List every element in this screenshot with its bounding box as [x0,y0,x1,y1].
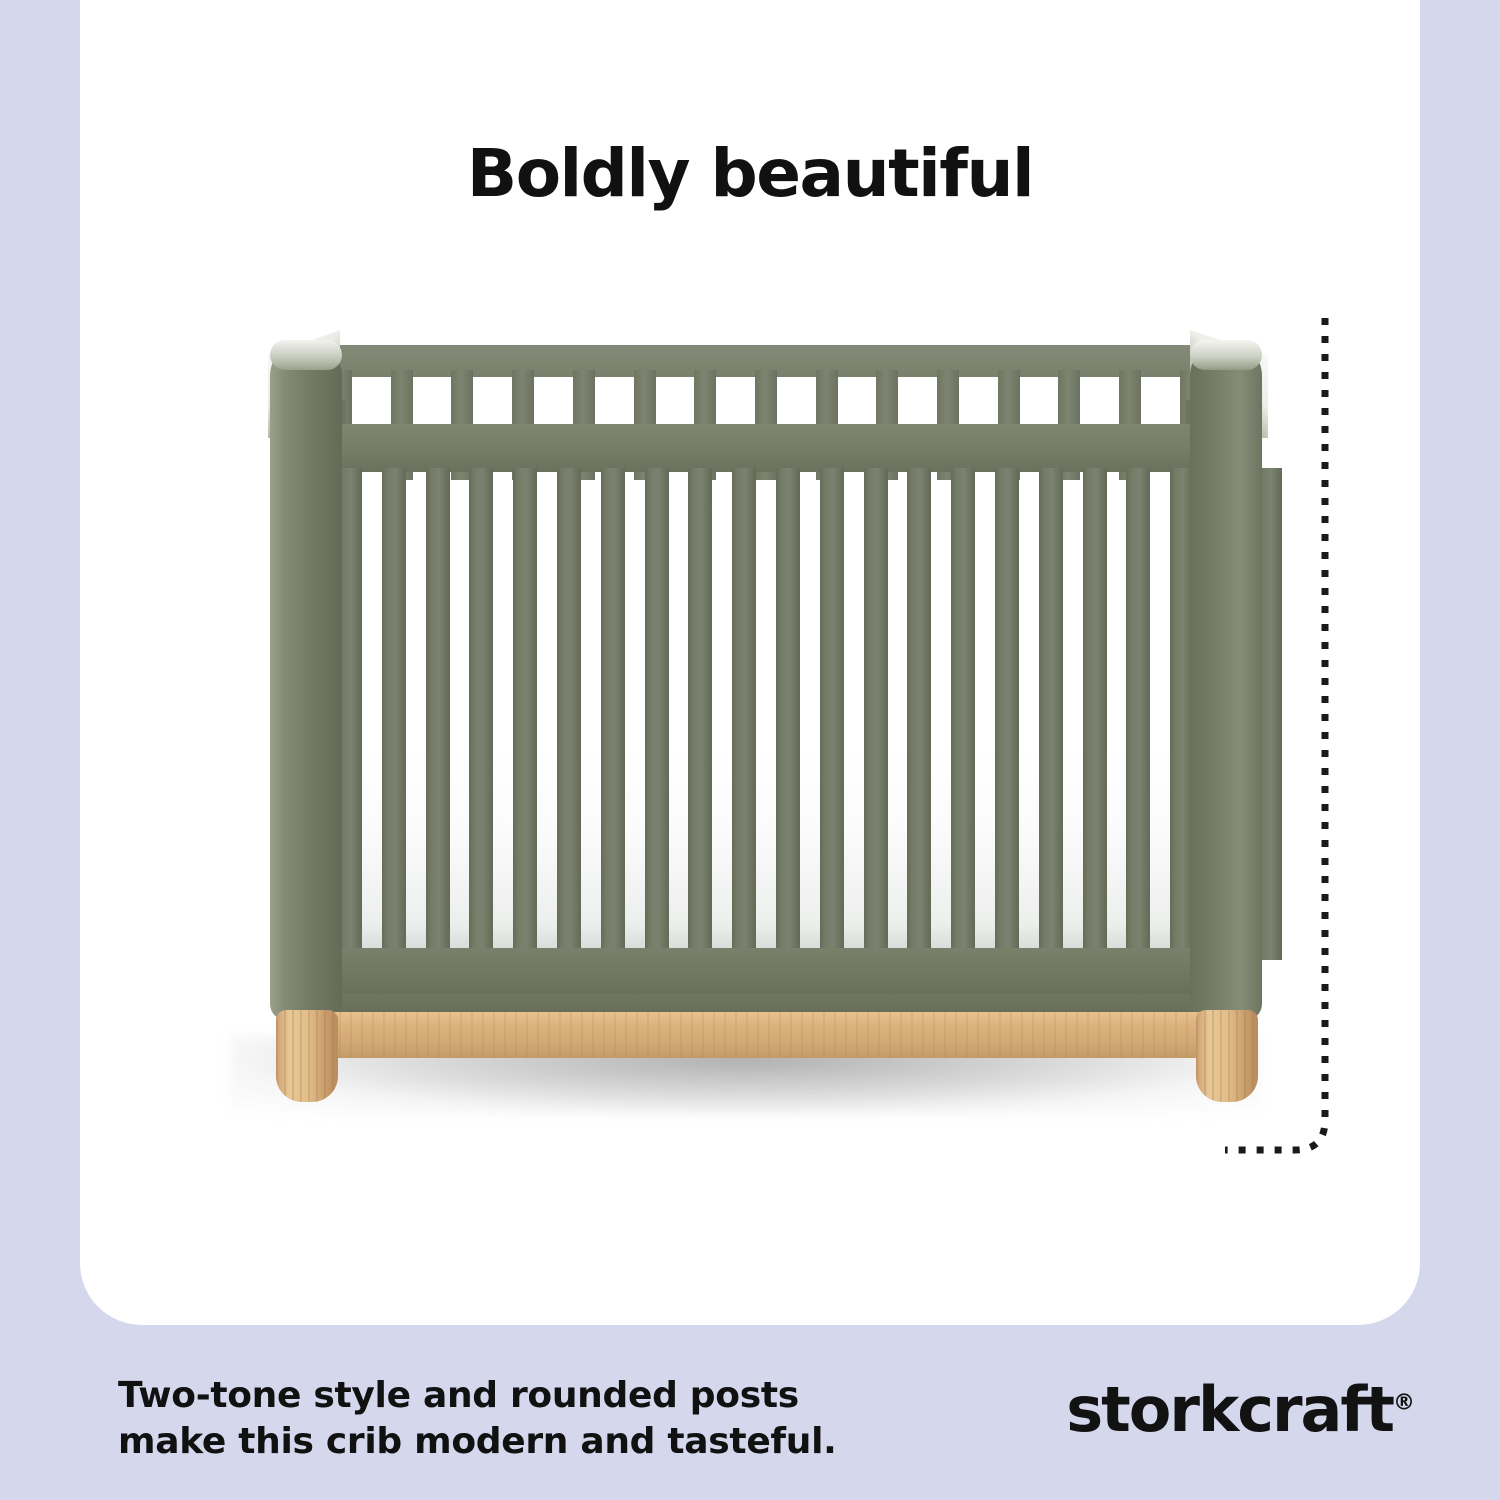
caption-line-1: Two-tone style and rounded posts [118,1373,837,1419]
crib-front-slat [907,468,931,960]
crib-wood-base-rail [328,1012,1208,1058]
crib-illustration [80,0,1420,1325]
crib-post-cap-right [1190,340,1262,370]
crib-front-slat [776,468,800,960]
crib-wood-leg-right [1196,1010,1258,1102]
crib-front-slat [469,468,493,960]
crib-front-slat [513,468,537,960]
brand-logo: storkcraft® [1066,1373,1415,1446]
crib-wood-leg-left [276,1010,338,1102]
crib-front-slat [557,468,581,960]
crib-front-slat [820,468,844,960]
registered-trademark-icon: ® [1393,1390,1415,1415]
crib-front-slat [1126,468,1150,960]
footer-bar: Two-tone style and rounded posts make th… [0,1325,1500,1500]
crib-post-cap-left [270,340,342,370]
crib-front-slat [688,468,712,960]
crib-front-slat [382,468,406,960]
crib-front-top-rail [280,424,1250,472]
crib-corner-post-right [1190,340,1262,1020]
product-feature-page: Boldly beautiful [0,0,1500,1500]
crib-corner-post-left [270,340,342,1020]
crib-front-slat [995,468,1019,960]
crib-front-slat [1083,468,1107,960]
crib-front-slat [601,468,625,960]
crib-front-slat [951,468,975,960]
crib-front-bottom-rail [280,948,1250,1000]
product-image-stage [80,0,1420,1325]
crib-front-slats [338,468,1282,960]
brand-wordmark: storkcraft [1066,1373,1393,1446]
crib-front-slat [645,468,669,960]
product-caption: Two-tone style and rounded posts make th… [118,1373,837,1465]
crib-front-slat [426,468,450,960]
crib-front-slat [732,468,756,960]
crib-front-slat [1039,468,1063,960]
caption-line-2: make this crib modern and tasteful. [118,1419,837,1465]
product-card: Boldly beautiful [80,0,1420,1325]
crib-front-slat [864,468,888,960]
